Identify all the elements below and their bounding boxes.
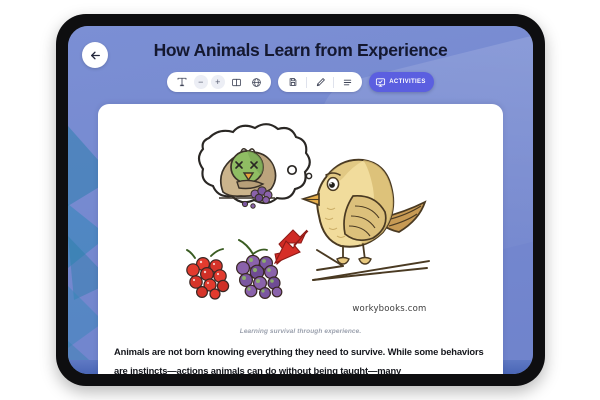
illustration-wrapper: workybooks.com xyxy=(98,120,503,320)
main-bird-group xyxy=(303,160,429,280)
purple-berry-cluster xyxy=(236,240,281,298)
toolbar-divider xyxy=(306,77,307,88)
lesson-illustration: workybooks.com xyxy=(167,120,435,318)
activities-button[interactable]: ACTIVITIES xyxy=(369,72,434,92)
typography-icon xyxy=(176,76,188,88)
translate-globe-icon-button[interactable] xyxy=(246,73,266,91)
toolbar-divider xyxy=(333,77,334,88)
book-view-icon-button[interactable] xyxy=(226,73,246,91)
typography-icon-button[interactable] xyxy=(172,73,192,91)
book-view-icon xyxy=(231,77,242,88)
increase-text-size-button[interactable]: + xyxy=(211,75,225,89)
highlight-pencil-icon-button[interactable] xyxy=(310,73,330,91)
decrease-text-size-button[interactable]: − xyxy=(194,75,208,89)
monitor-check-icon xyxy=(375,77,386,88)
toolbar: − + xyxy=(68,72,533,92)
save-icon xyxy=(288,77,298,87)
bird-learning-illustration-svg xyxy=(167,120,435,318)
toolbar-group-document-tools xyxy=(278,72,362,92)
lesson-content-card: workybooks.com Learning survival through… xyxy=(98,104,503,374)
app-header: How Animals Learn from Experience xyxy=(68,26,533,104)
translate-globe-icon xyxy=(251,77,262,88)
page-title: How Animals Learn from Experience xyxy=(68,40,533,61)
figure-caption: Learning survival through experience. xyxy=(98,328,503,335)
list-menu-icon-button[interactable] xyxy=(337,73,357,91)
increase-text-size-label: + xyxy=(215,78,220,87)
decrease-text-size-label: − xyxy=(198,78,203,87)
highlight-pencil-icon xyxy=(315,77,326,88)
tablet-device-frame: How Animals Learn from Experience xyxy=(56,14,545,386)
red-arrow xyxy=(275,230,308,264)
save-icon-button[interactable] xyxy=(283,73,303,91)
activities-label: ACTIVITIES xyxy=(389,79,426,85)
tablet-screen: How Animals Learn from Experience xyxy=(68,26,533,374)
lesson-paragraph: Animals are not born knowing everything … xyxy=(114,342,487,374)
list-menu-icon xyxy=(342,77,353,88)
screenshot-root: How Animals Learn from Experience xyxy=(0,0,600,400)
red-berry-cluster xyxy=(186,249,228,299)
watermark-text: workybooks.com xyxy=(352,304,426,314)
toolbar-group-text-tools: − + xyxy=(167,72,271,92)
